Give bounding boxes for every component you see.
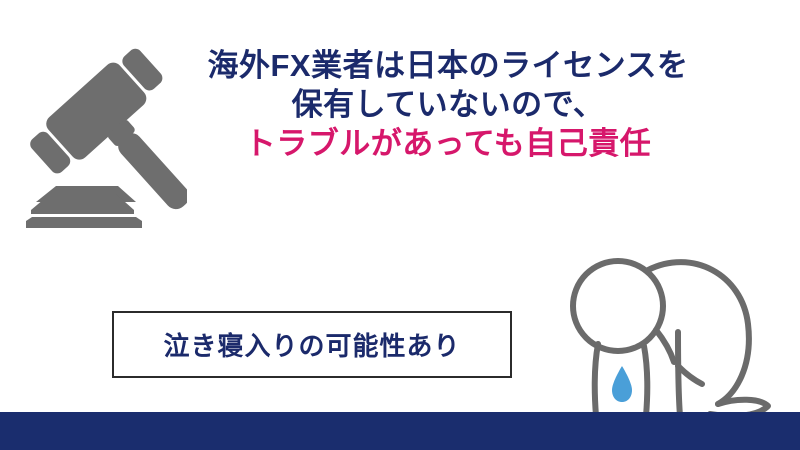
callout-text: 泣き寝入りの可能性あり (163, 326, 460, 363)
teardrop-icon (612, 366, 632, 402)
callout-box: 泣き寝入りの可能性あり (112, 311, 512, 378)
bottom-navy-band (0, 412, 800, 450)
headline-block: 海外FX業者は日本のライセンスを 保有していないので、 トラブルがあっても自己責… (178, 46, 718, 163)
dejected-person-icon (573, 261, 768, 416)
dejected-person-illustration (560, 238, 790, 418)
headline-line-3-accent: トラブルがあっても自己責任 (178, 124, 718, 163)
headline-line-1: 海外FX業者は日本のライセンスを (178, 46, 718, 85)
slide-canvas: 海外FX業者は日本のライセンスを 保有していないので、 トラブルがあっても自己責… (0, 0, 800, 450)
sound-block-icon (26, 186, 142, 228)
gavel-illustration (12, 28, 187, 228)
headline-line-2: 保有していないので、 (178, 85, 718, 124)
